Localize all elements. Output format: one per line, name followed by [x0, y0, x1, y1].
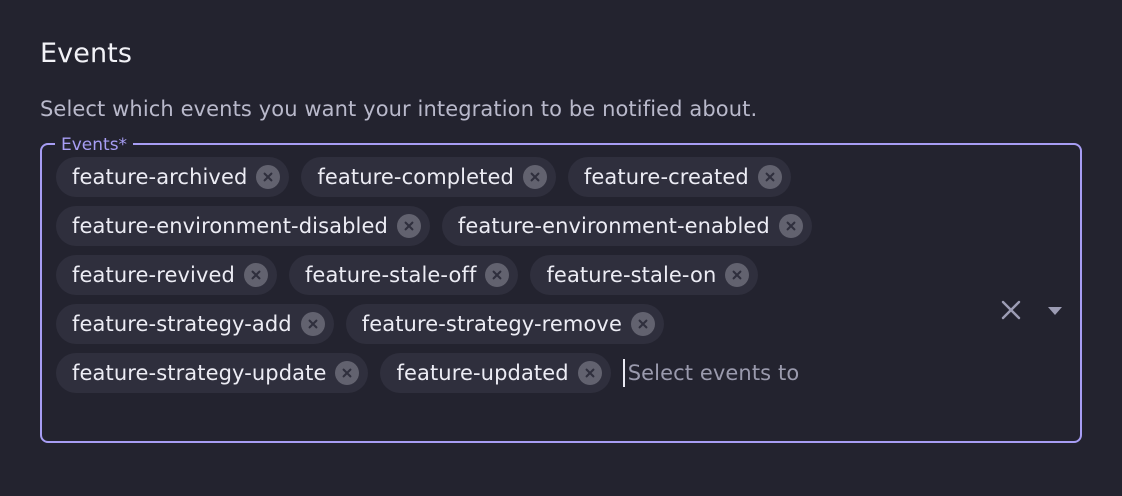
selected-event-chip-label: feature-strategy-update: [72, 363, 326, 384]
chip-remove-icon[interactable]: [725, 263, 749, 287]
selected-event-chip[interactable]: feature-environment-enabled: [442, 206, 812, 246]
chip-remove-icon[interactable]: [485, 263, 509, 287]
selected-event-chip[interactable]: feature-updated: [380, 353, 610, 393]
selected-events-chip-list: feature-archivedfeature-completedfeature…: [56, 153, 984, 393]
chip-remove-icon[interactable]: [335, 361, 359, 385]
selected-event-chip[interactable]: feature-completed: [301, 157, 556, 197]
text-cursor: [623, 359, 625, 387]
selected-event-chip[interactable]: feature-archived: [56, 157, 289, 197]
chip-remove-icon[interactable]: [779, 214, 803, 238]
selected-event-chip-label: feature-created: [584, 167, 749, 188]
selected-event-chip-label: feature-revived: [72, 265, 235, 286]
selected-event-chip-label: feature-strategy-remove: [362, 314, 622, 335]
chip-remove-icon[interactable]: [631, 312, 655, 336]
chip-remove-icon[interactable]: [397, 214, 421, 238]
events-search-entry[interactable]: Select events to: [623, 353, 984, 393]
selected-event-chip-label: feature-environment-disabled: [72, 216, 388, 237]
selected-event-chip[interactable]: feature-created: [568, 157, 791, 197]
selected-event-chip-label: feature-updated: [396, 363, 568, 384]
chip-remove-icon[interactable]: [244, 263, 268, 287]
selected-event-chip[interactable]: feature-strategy-add: [56, 304, 334, 344]
events-input-placeholder: Select events to: [628, 363, 800, 384]
events-multiselect[interactable]: Events* feature-archivedfeature-complete…: [40, 143, 1082, 443]
chevron-down-icon[interactable]: [1044, 299, 1066, 321]
section-description: Select which events you want your integr…: [40, 99, 1082, 120]
chip-remove-icon[interactable]: [758, 165, 782, 189]
selected-event-chip[interactable]: feature-strategy-update: [56, 353, 368, 393]
events-settings-page: Events Select which events you want your…: [0, 0, 1122, 496]
selected-event-chip-label: feature-stale-on: [546, 265, 716, 286]
events-field-legend-label: Events*: [61, 137, 127, 154]
selected-event-chip[interactable]: feature-stale-off: [289, 255, 519, 295]
page-title: Events: [40, 38, 1082, 67]
selected-event-chip[interactable]: feature-strategy-remove: [346, 304, 664, 344]
selected-event-chip-label: feature-environment-enabled: [458, 216, 770, 237]
selected-event-chip-label: feature-completed: [317, 167, 514, 188]
selected-event-chip[interactable]: feature-revived: [56, 255, 277, 295]
clear-all-icon[interactable]: [998, 297, 1024, 323]
events-field-legend: Events*: [55, 135, 133, 155]
selected-event-chip-label: feature-strategy-add: [72, 314, 292, 335]
chip-remove-icon[interactable]: [301, 312, 325, 336]
selected-event-chip-label: feature-archived: [72, 167, 247, 188]
selected-event-chip[interactable]: feature-stale-on: [530, 255, 758, 295]
chip-remove-icon[interactable]: [578, 361, 602, 385]
chip-remove-icon[interactable]: [256, 165, 280, 189]
selected-event-chip[interactable]: feature-environment-disabled: [56, 206, 430, 246]
select-indicators: [998, 297, 1066, 323]
selected-event-chip-label: feature-stale-off: [305, 265, 477, 286]
chip-remove-icon[interactable]: [523, 165, 547, 189]
